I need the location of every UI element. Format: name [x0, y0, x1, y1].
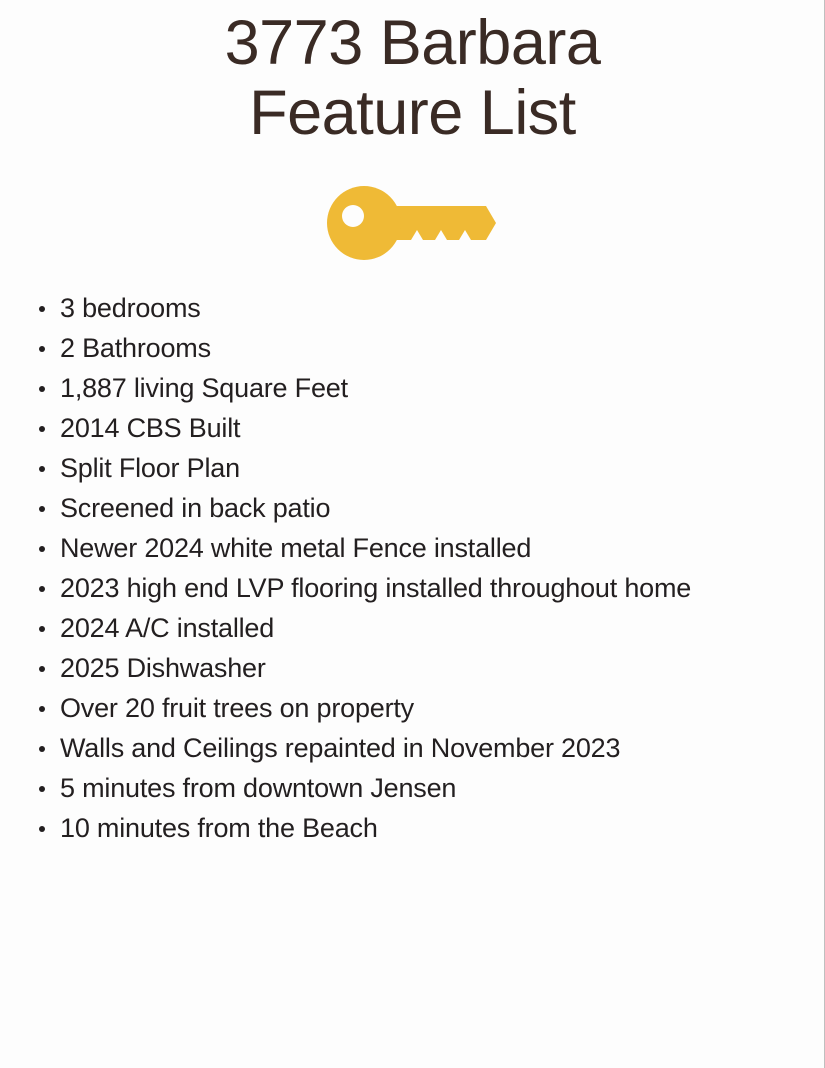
- list-item-label: Screened in back patio: [60, 493, 330, 523]
- list-item: 10 minutes from the Beach: [0, 808, 825, 848]
- bullet-icon: [39, 786, 45, 792]
- list-item: 3 bedrooms: [0, 288, 825, 328]
- list-item-label: Over 20 fruit trees on property: [60, 693, 414, 723]
- list-item-label: Walls and Ceilings repainted in November…: [60, 733, 620, 763]
- bullet-icon: [39, 506, 45, 512]
- feature-list: 3 bedrooms 2 Bathrooms 1,887 living Squa…: [0, 288, 825, 848]
- list-item-label: 2 Bathrooms: [60, 333, 211, 363]
- list-item-label: 3 bedrooms: [60, 293, 201, 323]
- list-item: 2014 CBS Built: [0, 408, 825, 448]
- bullet-icon: [39, 706, 45, 712]
- bullet-icon: [39, 826, 45, 832]
- list-item-label: Split Floor Plan: [60, 453, 240, 483]
- key-icon: [326, 186, 496, 266]
- list-item-label: 2025 Dishwasher: [60, 653, 266, 683]
- page-title-line-2: Feature List: [0, 78, 825, 148]
- feature-list-page: 3773 Barbara Feature List 3 bedrooms 2 B…: [0, 0, 825, 1068]
- bullet-icon: [39, 306, 45, 312]
- list-item-label: 2014 CBS Built: [60, 413, 240, 443]
- bullet-icon: [39, 466, 45, 472]
- list-item-label: 2023 high end LVP flooring installed thr…: [60, 573, 691, 603]
- page-title-line-1: 3773 Barbara: [0, 8, 825, 78]
- list-item: 2024 A/C installed: [0, 608, 825, 648]
- list-item: 1,887 living Square Feet: [0, 368, 825, 408]
- list-item: 2 Bathrooms: [0, 328, 825, 368]
- bullet-icon: [39, 666, 45, 672]
- list-item: Walls and Ceilings repainted in November…: [0, 728, 825, 768]
- bullet-icon: [39, 746, 45, 752]
- list-item-label: 1,887 living Square Feet: [60, 373, 348, 403]
- bullet-icon: [39, 386, 45, 392]
- list-item: Screened in back patio: [0, 488, 825, 528]
- bullet-icon: [39, 546, 45, 552]
- list-item: Over 20 fruit trees on property: [0, 688, 825, 728]
- list-item: 5 minutes from downtown Jensen: [0, 768, 825, 808]
- bullet-icon: [39, 426, 45, 432]
- bullet-icon: [39, 626, 45, 632]
- list-item: Newer 2024 white metal Fence installed: [0, 528, 825, 568]
- page-title: 3773 Barbara Feature List: [0, 8, 825, 148]
- list-item: Split Floor Plan: [0, 448, 825, 488]
- bullet-icon: [39, 346, 45, 352]
- list-item-label: Newer 2024 white metal Fence installed: [60, 533, 531, 563]
- bullet-icon: [39, 586, 45, 592]
- list-item-label: 10 minutes from the Beach: [60, 813, 378, 843]
- list-item-label: 5 minutes from downtown Jensen: [60, 773, 456, 803]
- list-item: 2025 Dishwasher: [0, 648, 825, 688]
- list-item: 2023 high end LVP flooring installed thr…: [0, 568, 825, 608]
- list-item-label: 2024 A/C installed: [60, 613, 274, 643]
